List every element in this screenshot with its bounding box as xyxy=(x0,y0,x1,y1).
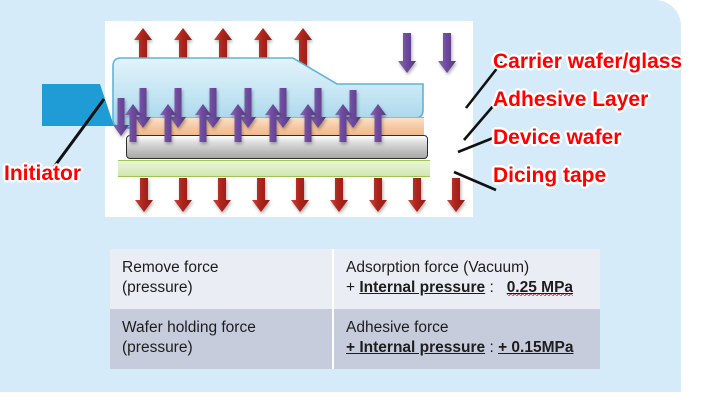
red-down-arrow xyxy=(291,178,309,212)
red-down-arrow xyxy=(408,178,426,212)
callout-adhesive-layer: Adhesive Layer xyxy=(493,88,648,112)
purple-up-arrow xyxy=(265,104,281,142)
purple-up-arrow xyxy=(300,104,316,142)
value-separator: : xyxy=(485,279,494,296)
callout-dicing-tape: Dicing tape xyxy=(493,164,606,188)
callout-carrier-wafer: Carrier wafer/glass xyxy=(493,50,682,74)
initiator-label: Initiator xyxy=(4,162,81,186)
red-down-arrow xyxy=(174,178,192,212)
value-line-2: + Internal pressure : 0.25 MPa xyxy=(346,278,588,298)
red-down-arrow xyxy=(135,178,153,212)
value-separator: : xyxy=(485,339,494,356)
red-down-arrow xyxy=(213,178,231,212)
value-line-1: Adsorption force (Vacuum) xyxy=(346,258,588,278)
label-line-1: Remove force xyxy=(122,258,320,278)
red-down-arrow xyxy=(252,178,270,212)
table-cell-value: Adhesive force + Internal pressure : + 0… xyxy=(333,309,600,369)
purple-up-arrow xyxy=(335,104,351,142)
table-row: Remove force (pressure) Adsorption force… xyxy=(110,249,600,309)
value-number: 0.25 MPa xyxy=(507,279,573,296)
purple-up-arrow xyxy=(125,104,141,142)
dicing-tape-layer xyxy=(118,160,430,177)
purple-up-arrow xyxy=(230,104,246,142)
value-prefix: + xyxy=(346,279,359,296)
value-bold: Internal pressure xyxy=(359,279,485,296)
value-number: + 0.15MPa xyxy=(498,339,573,356)
table-cell-label: Wafer holding force (pressure) xyxy=(110,309,333,369)
value-line-1: Adhesive force xyxy=(346,318,588,338)
table-row: Wafer holding force (pressure) Adhesive … xyxy=(110,309,600,369)
callout-device-wafer: Device wafer xyxy=(493,126,621,150)
label-line-2: (pressure) xyxy=(122,338,320,358)
label-line-1: Wafer holding force xyxy=(122,318,320,338)
table-cell-value: Adsorption force (Vacuum) + Internal pre… xyxy=(333,249,600,309)
purple-up-arrow xyxy=(370,104,386,142)
value-bold: + Internal pressure xyxy=(346,339,485,356)
value-line-2: + Internal pressure : + 0.15MPa xyxy=(346,338,588,358)
table-cell-label: Remove force (pressure) xyxy=(110,249,333,309)
force-table: Remove force (pressure) Adsorption force… xyxy=(110,249,600,369)
label-line-2: (pressure) xyxy=(122,278,320,298)
red-down-arrow xyxy=(369,178,387,212)
purple-up-arrow xyxy=(160,104,176,142)
red-down-arrow xyxy=(330,178,348,212)
purple-up-arrow xyxy=(195,104,211,142)
